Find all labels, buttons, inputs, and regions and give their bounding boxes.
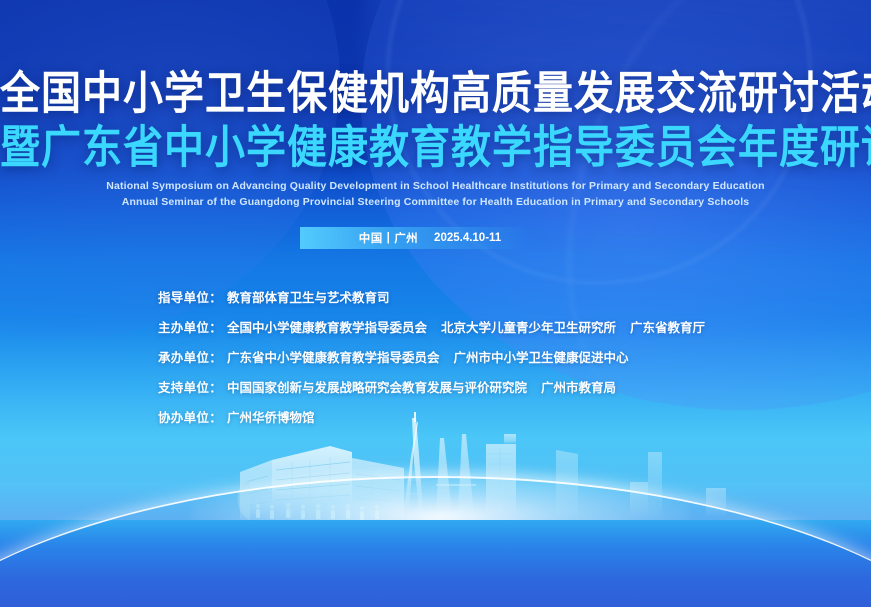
- credit-values: 广东省中小学健康教育教学指导委员会 广州市中小学卫生健康促进中心: [227, 347, 629, 366]
- credit-values: 广州华侨博物馆: [227, 407, 315, 426]
- credit-value: 全国中小学健康教育教学指导委员会: [227, 317, 427, 336]
- credits-block: 指导单位： 教育部体育卫生与艺术教育司 主办单位： 全国中小学健康教育教学指导委…: [158, 287, 705, 437]
- credit-value: 中国国家创新与发展战略研究会教育发展与评价研究院: [227, 377, 527, 396]
- credit-value: 广州市中小学卫生健康促进中心: [454, 347, 629, 366]
- credit-value: 教育部体育卫生与艺术教育司: [227, 287, 390, 306]
- credit-label: 协办单位：: [158, 407, 222, 426]
- horizon-glow: [190, 468, 690, 538]
- credit-values: 教育部体育卫生与艺术教育司: [227, 287, 390, 306]
- credit-label: 主办单位：: [158, 317, 222, 336]
- credit-label: 承办单位：: [158, 347, 222, 366]
- credit-value: 广东省中小学健康教育教学指导委员会: [227, 347, 440, 366]
- credit-row: 指导单位： 教育部体育卫生与艺术教育司: [158, 287, 705, 306]
- credit-row: 主办单位： 全国中小学健康教育教学指导委员会 北京大学儿童青少年卫生研究所 广东…: [158, 317, 705, 336]
- credit-row: 协办单位： 广州华侨博物馆: [158, 407, 705, 426]
- badge-country: 中国: [359, 230, 383, 246]
- badge-separator: |: [387, 232, 391, 244]
- horizon-arc: [0, 476, 871, 607]
- credit-row: 承办单位： 广东省中小学健康教育教学指导委员会 广州市中小学卫生健康促进中心: [158, 347, 705, 366]
- subtitle-block: National Symposium on Advancing Quality …: [0, 178, 871, 211]
- ground-plane: [0, 520, 871, 607]
- title-line-2: 暨广东省中小学健康教育教学指导委员会年度研讨活动: [0, 126, 871, 171]
- credit-value: 广州华侨博物馆: [227, 407, 315, 426]
- credit-value: 北京大学儿童青少年卫生研究所: [441, 317, 616, 336]
- credit-values: 全国中小学健康教育教学指导委员会 北京大学儿童青少年卫生研究所 广东省教育厅: [227, 317, 705, 336]
- credit-value: 广东省教育厅: [630, 317, 705, 336]
- credit-label: 指导单位：: [158, 287, 222, 306]
- badge-city: 广州: [394, 230, 418, 246]
- location-date-badge: 中国 | 广州 2025.4.10-11: [300, 227, 560, 249]
- badge-date: 2025.4.10-11: [434, 232, 501, 244]
- credit-label: 支持单位：: [158, 377, 222, 396]
- title-block: 全国中小学卫生保健机构高质量发展交流研讨活动 暨广东省中小学健康教育教学指导委员…: [0, 74, 871, 168]
- credit-value: 广州市教育局: [541, 377, 616, 396]
- credit-values: 中国国家创新与发展战略研究会教育发展与评价研究院 广州市教育局: [227, 377, 616, 396]
- subtitle-line-2: Annual Seminar of the Guangdong Provinci…: [0, 194, 871, 210]
- title-line-1: 全国中小学卫生保健机构高质量发展交流研讨活动: [0, 72, 871, 117]
- conference-banner: 全国中小学卫生保健机构高质量发展交流研讨活动 暨广东省中小学健康教育教学指导委员…: [0, 0, 871, 607]
- subtitle-line-1: National Symposium on Advancing Quality …: [0, 178, 871, 194]
- credit-row: 支持单位： 中国国家创新与发展战略研究会教育发展与评价研究院 广州市教育局: [158, 377, 705, 396]
